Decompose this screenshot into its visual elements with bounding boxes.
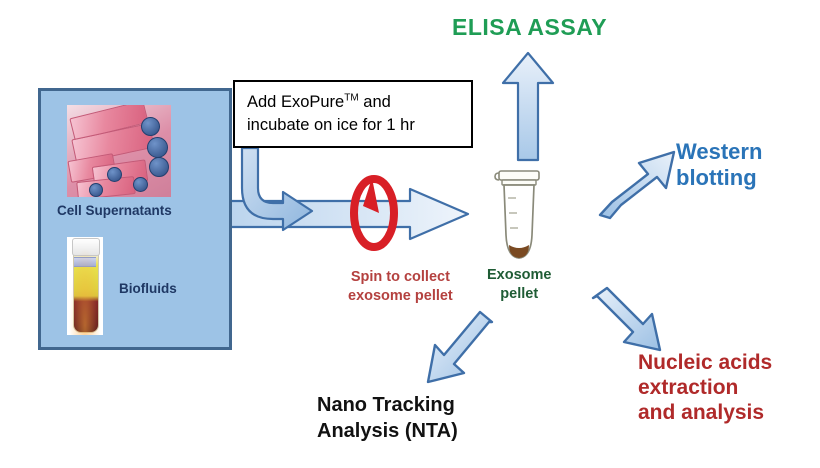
nta-line2: Analysis (NTA) [317,420,458,442]
label-biofluids: Biofluids [119,281,177,296]
label-spin-to-collect: Spin to collect exosome pellet [348,268,453,306]
arrow-down-right-nucleic [593,288,660,350]
label-cell-supernatants: Cell Supernatants [57,203,172,218]
nucleic-line2: extraction [638,376,738,399]
microcentrifuge-tube-icon [488,165,552,269]
western-line2: blotting [676,165,757,190]
label-western-blotting: Western blotting [676,139,762,191]
pellet-line2: pellet [487,285,551,304]
sample-sources-panel: Cell Supernatants Biofluids [38,88,232,350]
label-nano-tracking-analysis: Nano Tracking Analysis (NTA) [317,392,458,444]
spin-line1: Spin to collect [351,269,450,285]
arrow-down-left-nta [428,312,492,382]
nucleic-line1: Nucleic acids [638,351,772,374]
western-line1: Western [676,139,762,164]
nta-line1: Nano Tracking [317,394,455,416]
label-nucleic-acids: Nucleic acids extraction and analysis [638,350,772,426]
instruction-line1-suffix: and [359,93,391,111]
culture-flasks-photo [67,105,171,197]
label-elisa-assay: ELISA ASSAY [452,14,607,41]
spin-line2: exosome pellet [348,287,453,306]
arrow-up-right-western [600,152,674,218]
trademark-superscript: TM [344,93,358,104]
instruction-text-box: Add ExoPureTM and incubate on ice for 1 … [233,80,473,148]
blood-collection-tube-photo [67,237,103,335]
label-exosome-pellet: Exosome pellet [487,266,551,304]
diagram-canvas: Cell Supernatants Biofluids Add ExoPureT… [0,0,820,468]
instruction-line1-prefix: Add ExoPure [247,93,344,111]
pellet-line1: Exosome [487,267,551,283]
instruction-line2: incubate on ice for 1 hr [247,116,415,134]
nucleic-line3: and analysis [638,401,764,424]
arrow-up-elisa [503,53,553,160]
